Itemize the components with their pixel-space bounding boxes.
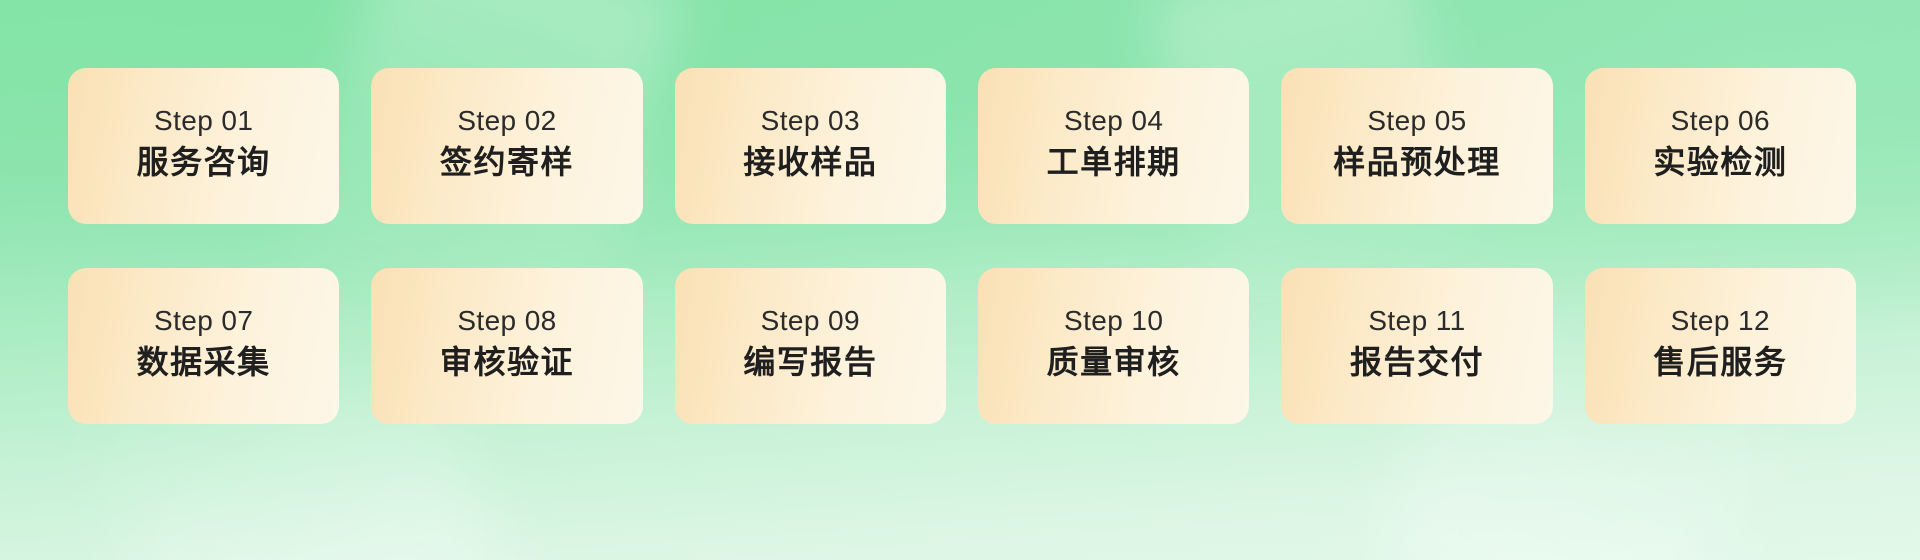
step-number: Step 07 bbox=[154, 305, 253, 336]
step-number: Step 01 bbox=[154, 105, 253, 136]
step-number: Step 09 bbox=[761, 305, 860, 336]
step-card[interactable]: Step 08审核验证 bbox=[371, 268, 642, 424]
step-label: 编写报告 bbox=[743, 345, 877, 381]
step-label: 工单排期 bbox=[1047, 145, 1181, 181]
step-card[interactable]: Step 05样品预处理 bbox=[1281, 68, 1552, 224]
step-label: 报告交付 bbox=[1350, 345, 1484, 381]
step-label: 质量审核 bbox=[1047, 345, 1181, 381]
step-label: 服务咨询 bbox=[137, 145, 271, 181]
step-number: Step 10 bbox=[1064, 305, 1163, 336]
step-number: Step 11 bbox=[1368, 305, 1465, 336]
step-number: Step 06 bbox=[1671, 105, 1770, 136]
step-label: 审核验证 bbox=[440, 345, 574, 381]
step-number: Step 05 bbox=[1367, 105, 1466, 136]
step-card[interactable]: Step 07数据采集 bbox=[68, 268, 339, 424]
step-card[interactable]: Step 04工单排期 bbox=[978, 68, 1249, 224]
step-number: Step 03 bbox=[761, 105, 860, 136]
step-label: 签约寄样 bbox=[440, 145, 574, 181]
step-card[interactable]: Step 11报告交付 bbox=[1281, 268, 1552, 424]
step-label: 售后服务 bbox=[1653, 345, 1787, 381]
step-label: 数据采集 bbox=[137, 345, 271, 381]
step-card[interactable]: Step 02签约寄样 bbox=[371, 68, 642, 224]
step-label: 样品预处理 bbox=[1333, 145, 1501, 181]
step-number: Step 08 bbox=[457, 305, 556, 336]
process-steps-banner: Step 01服务咨询Step 02签约寄样Step 03接收样品Step 04… bbox=[0, 0, 1920, 560]
step-card[interactable]: Step 06实验检测 bbox=[1585, 68, 1856, 224]
step-card[interactable]: Step 12售后服务 bbox=[1585, 268, 1856, 424]
step-card[interactable]: Step 01服务咨询 bbox=[68, 68, 339, 224]
step-card[interactable]: Step 03接收样品 bbox=[675, 68, 946, 224]
step-number: Step 12 bbox=[1671, 305, 1770, 336]
step-number: Step 02 bbox=[457, 105, 556, 136]
step-number: Step 04 bbox=[1064, 105, 1163, 136]
step-label: 接收样品 bbox=[743, 145, 877, 181]
step-card-grid: Step 01服务咨询Step 02签约寄样Step 03接收样品Step 04… bbox=[68, 68, 1856, 424]
step-card[interactable]: Step 09编写报告 bbox=[675, 268, 946, 424]
step-card[interactable]: Step 10质量审核 bbox=[978, 268, 1249, 424]
step-label: 实验检测 bbox=[1653, 145, 1787, 181]
